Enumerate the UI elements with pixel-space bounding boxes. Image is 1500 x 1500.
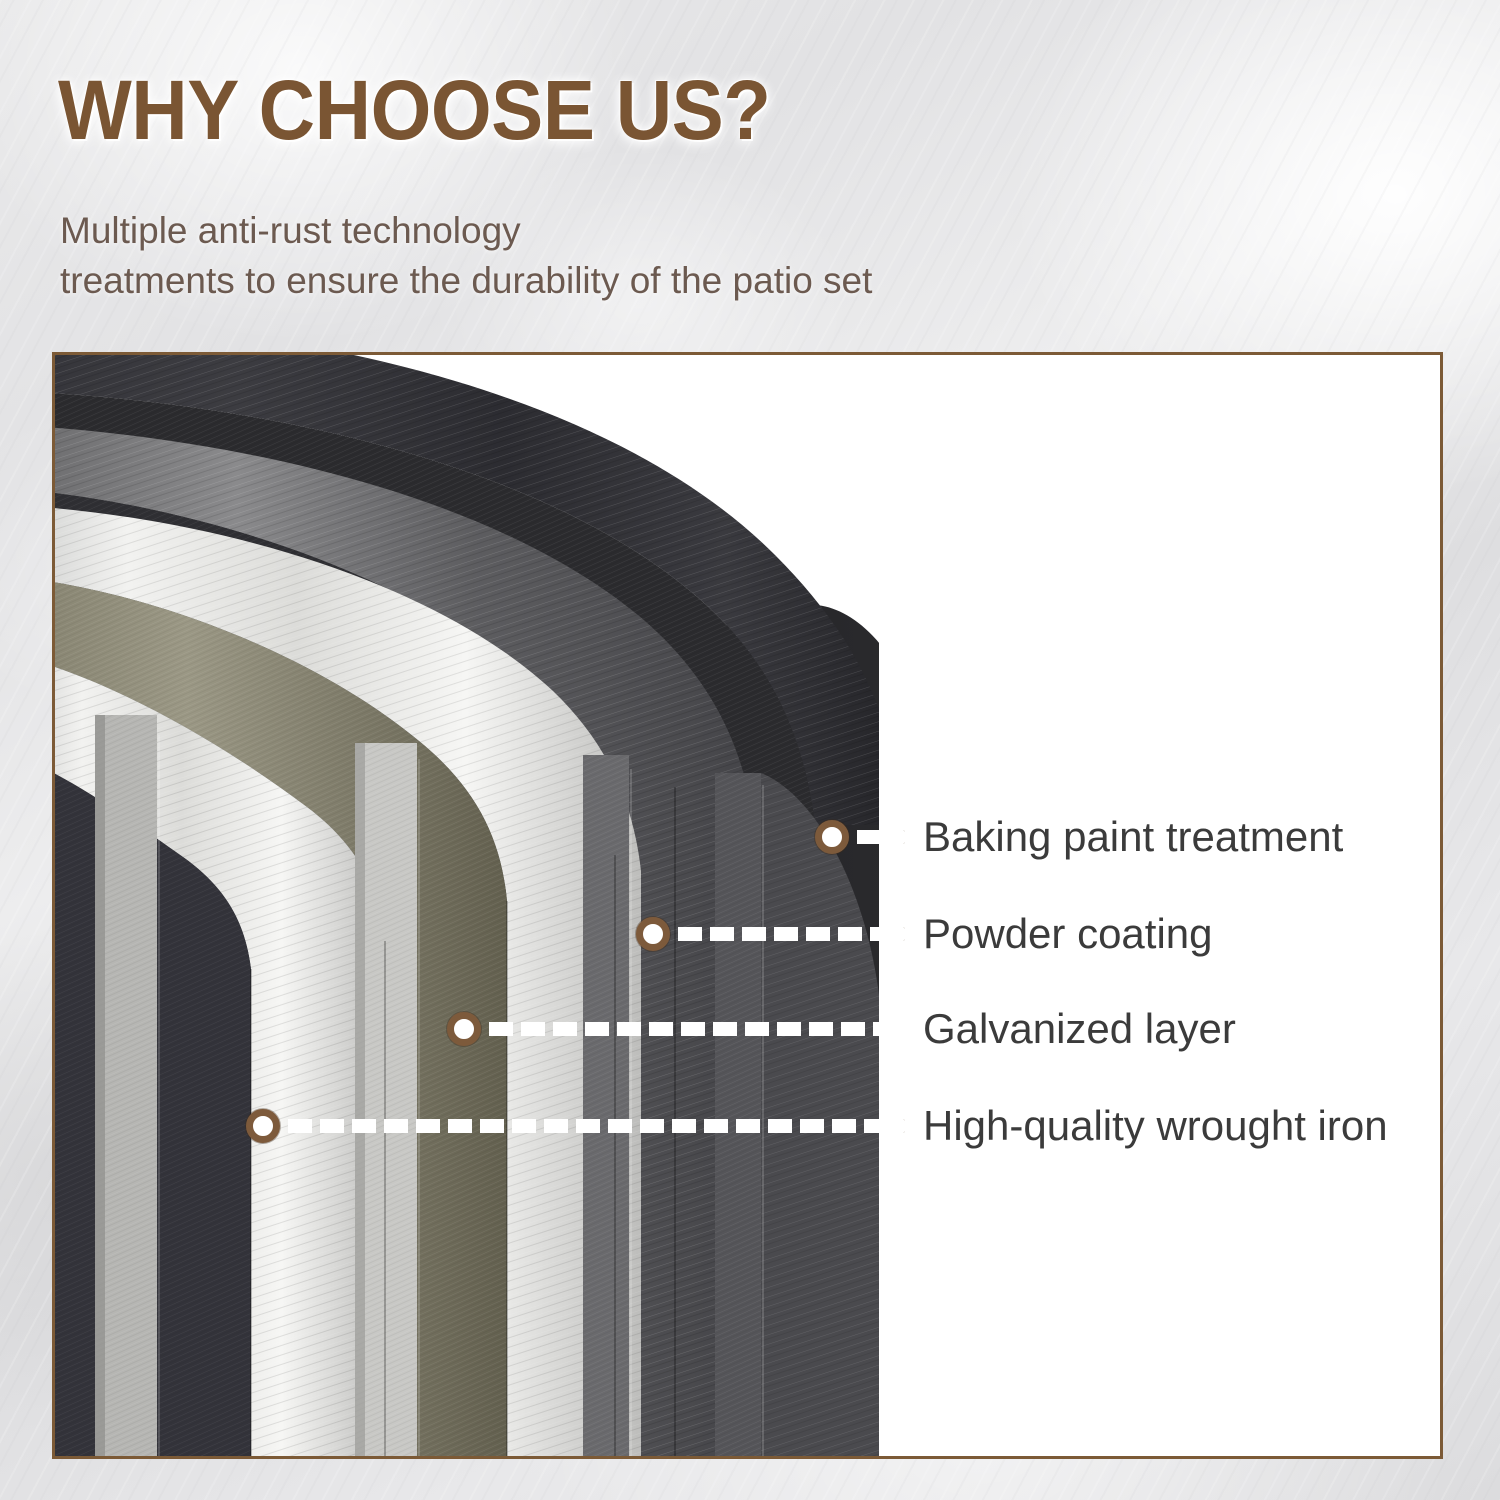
callout-leader-line	[853, 830, 905, 844]
callout-dot-icon	[636, 917, 670, 951]
callout-dot-icon	[447, 1012, 481, 1046]
metal-layers-photo: Baking paint treatment Powder coating Ga…	[55, 355, 1440, 1456]
callout-galvanized-layer[interactable]: Galvanized layer	[447, 1009, 1236, 1049]
callout-powder-coating[interactable]: Powder coating	[636, 914, 1213, 954]
callout-dot-icon	[246, 1109, 280, 1143]
callout-wrought-iron[interactable]: High-quality wrought iron	[246, 1106, 1388, 1146]
callout-baking-paint[interactable]: Baking paint treatment	[815, 817, 1343, 857]
product-image-panel: Baking paint treatment Powder coating Ga…	[52, 352, 1443, 1459]
page-subtitle: Multiple anti-rust technology treatments…	[60, 206, 872, 306]
callout-label-galvanized-layer: Galvanized layer	[923, 1008, 1236, 1050]
page-root: WHY CHOOSE US? Multiple anti-rust techno…	[0, 0, 1500, 1500]
callout-label-baking-paint: Baking paint treatment	[923, 816, 1343, 858]
callout-leader-line	[674, 927, 905, 941]
page-title: WHY CHOOSE US?	[58, 68, 771, 152]
callout-label-wrought-iron: High-quality wrought iron	[923, 1105, 1388, 1147]
callout-dot-icon	[815, 820, 849, 854]
metal-cross-section-illustration	[55, 355, 1440, 1456]
callout-leader-line	[485, 1022, 905, 1036]
callout-label-powder-coating: Powder coating	[923, 913, 1213, 955]
callout-leader-line	[284, 1119, 905, 1133]
